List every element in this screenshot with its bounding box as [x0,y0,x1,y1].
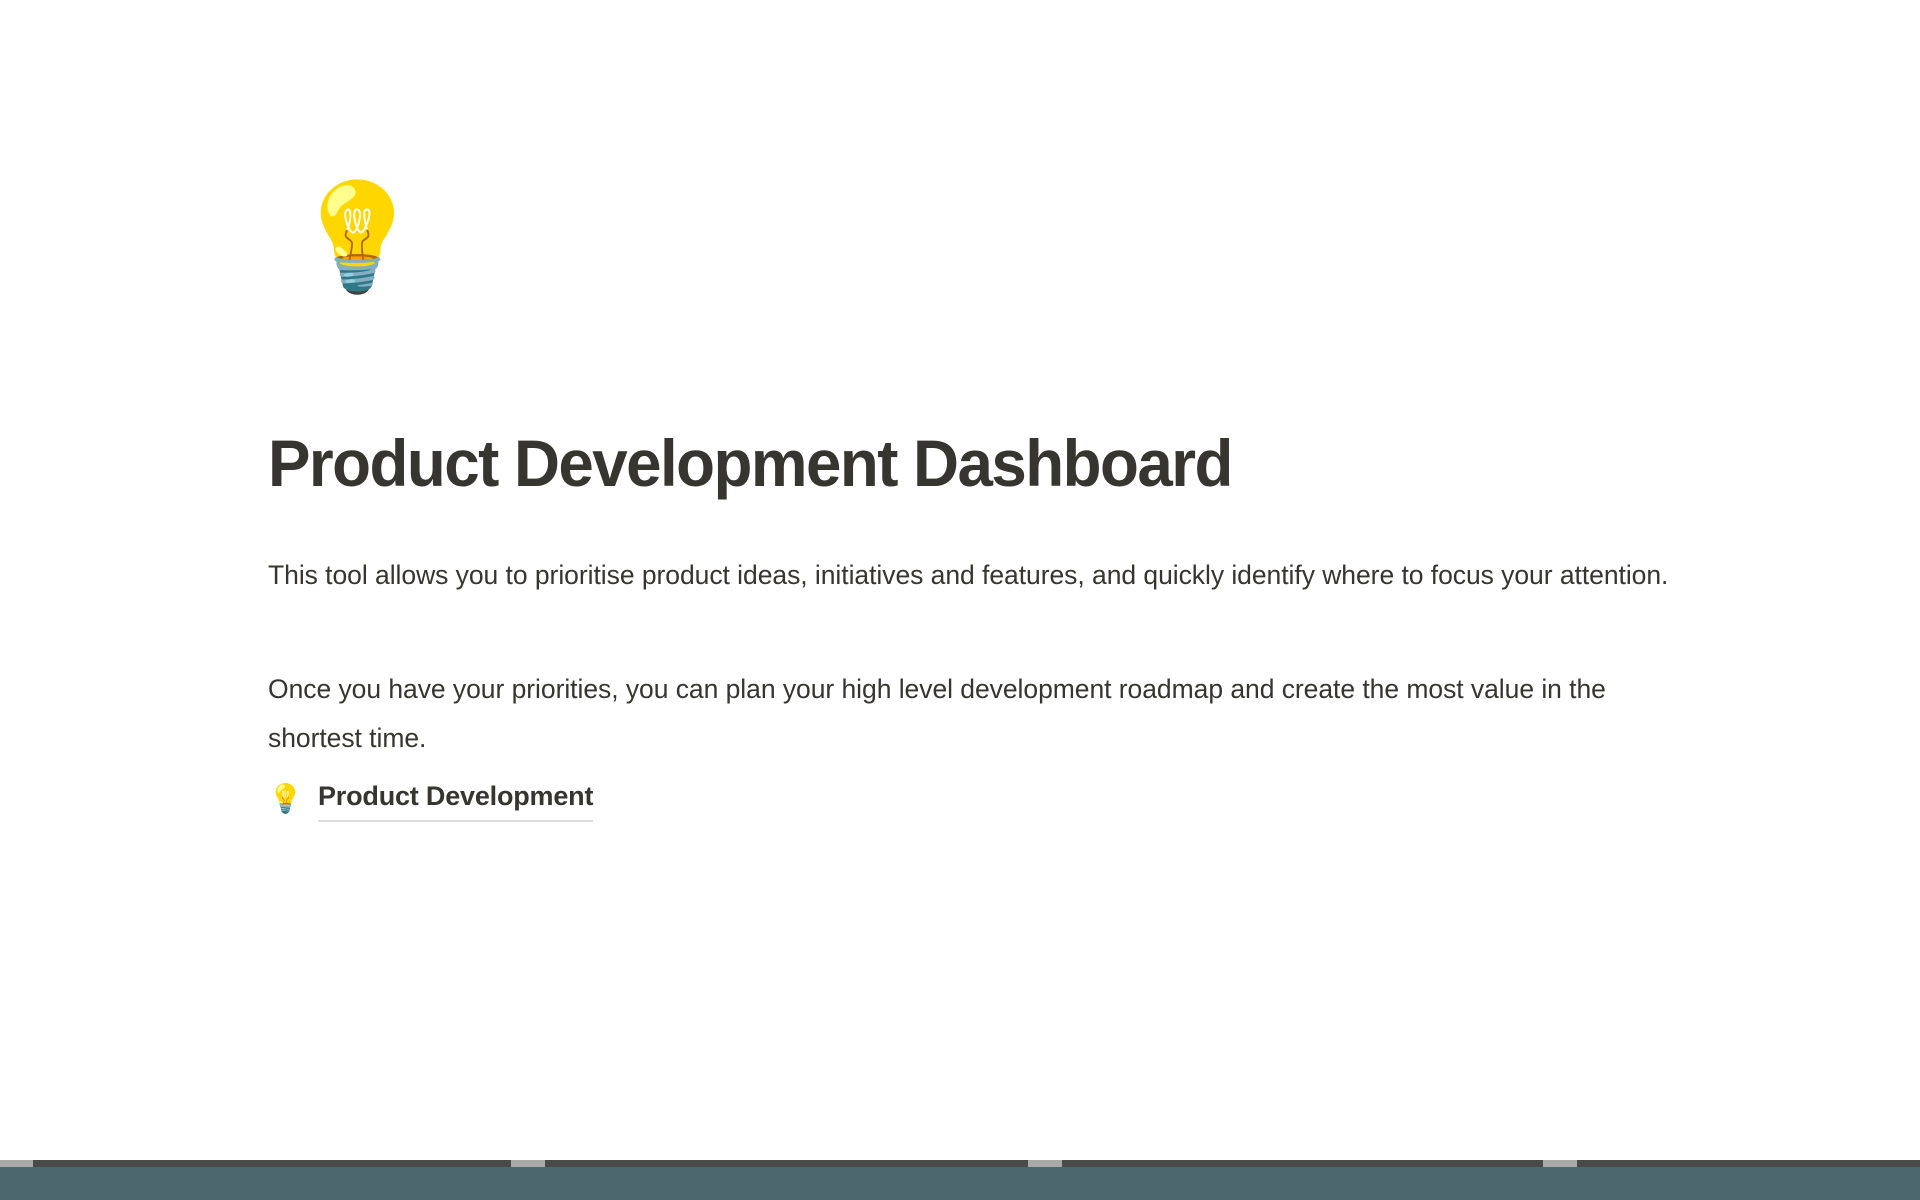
intro-paragraph-1: This tool allows you to prioritise produ… [268,551,1698,600]
page-link-product-development[interactable]: Product Development [318,776,593,822]
page-canvas: 💡 Product Development Dashboard This too… [0,0,1920,1160]
taskbar-strip[interactable] [0,1160,1920,1167]
bottom-system-bar [0,1160,1920,1200]
taskbar-tab-4[interactable] [1543,1160,1577,1167]
page-lightbulb-icon[interactable]: 💡 [292,185,423,290]
page-link-row[interactable]: 💡 Product Development [268,776,593,822]
page-link-lightbulb-icon: 💡 [268,785,300,813]
intro-paragraph-2: Once you have your priorities, you can p… [268,665,1698,763]
taskbar-tab-1[interactable] [0,1160,33,1167]
page-title: Product Development Dashboard [268,424,1232,502]
taskbar-tab-2[interactable] [511,1160,545,1167]
taskbar-tab-3[interactable] [1028,1160,1062,1167]
